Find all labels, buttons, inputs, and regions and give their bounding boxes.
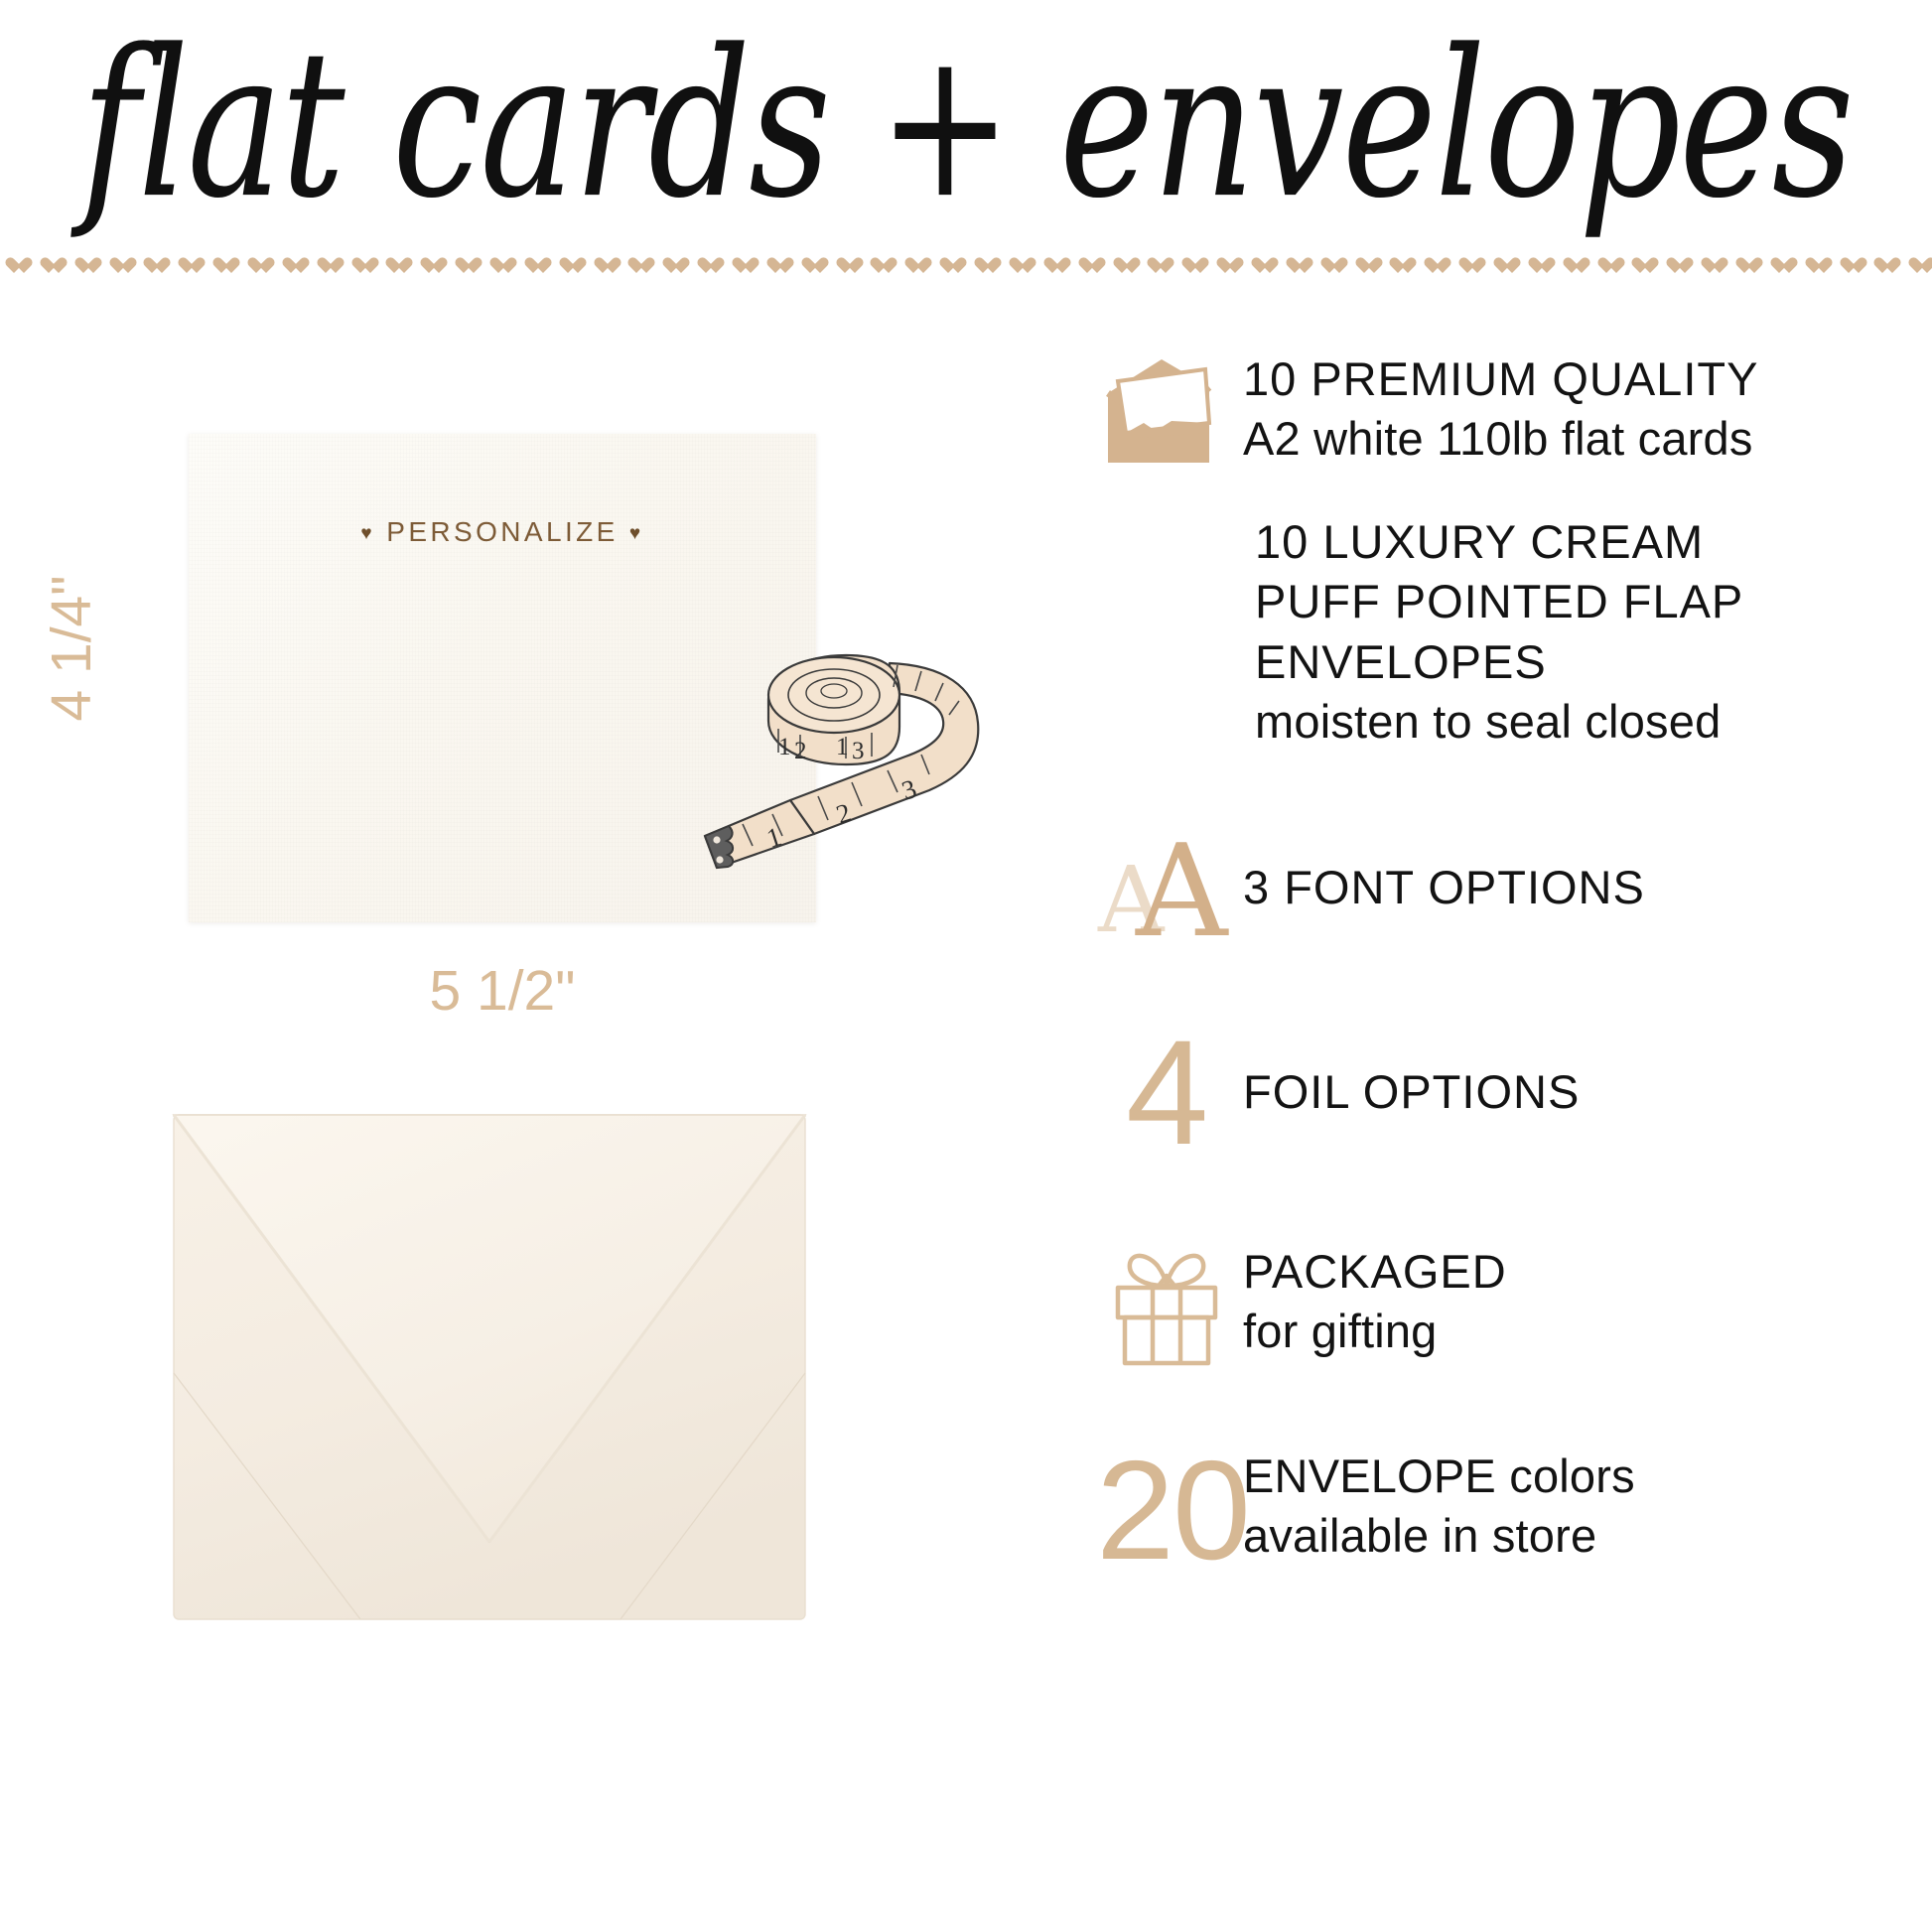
- heart-icon: [523, 257, 543, 276]
- gift-box-icon: [1106, 1242, 1227, 1369]
- tape-roll-mark-1: 1: [778, 734, 791, 760]
- heart-icon: [1319, 257, 1339, 276]
- feature-line: 3 FONT OPTIONS: [1243, 858, 1932, 917]
- feature-line: FOIL OPTIONS: [1243, 1062, 1932, 1122]
- heart-icon: [558, 257, 578, 276]
- feature-text: 10 PREMIUM QUALITY A2 white 110lb flat c…: [1231, 349, 1932, 469]
- feature-line: PACKAGED: [1243, 1242, 1932, 1302]
- feature-icon-slot: [1100, 349, 1231, 467]
- font-letter-large: A: [1136, 829, 1227, 956]
- personalize-text: PERSONALIZE: [386, 516, 618, 547]
- heart-icon: [973, 257, 993, 276]
- heart-icon: [39, 257, 59, 276]
- heart-icon: [696, 257, 716, 276]
- heart-icon: [1596, 257, 1616, 276]
- heart-icon: [281, 257, 301, 276]
- tape-roll-mark-4: 3: [852, 738, 865, 764]
- page-title-text: flat cards + envelopes: [80, 18, 1853, 231]
- heart-icon: [211, 257, 231, 276]
- feature-item-foil-options: 4 FOIL OPTIONS: [1100, 1024, 1932, 1161]
- open-envelope-with-card-icon: [1100, 349, 1223, 467]
- heart-icon-right: ♥: [629, 523, 644, 544]
- heart-icon: [1630, 257, 1650, 276]
- heart-icon: [454, 257, 474, 276]
- heart-divider: [0, 246, 1932, 286]
- feature-item-luxury-envelopes: 10 LUXURY CREAM PUFF POINTED FLAP ENVELO…: [1100, 512, 1932, 752]
- heart-icon: [1457, 257, 1477, 276]
- feature-line: moisten to seal closed: [1255, 692, 1932, 752]
- feature-line: 10 PREMIUM QUALITY: [1243, 349, 1932, 409]
- heart-icon: [1077, 257, 1097, 276]
- heart-icon: [1769, 257, 1789, 276]
- infographic-page: flat cards + envelopes ♥ PERSONALIZE ♥ 4…: [0, 0, 1932, 1932]
- heart-icon: [1872, 257, 1892, 276]
- heart-icon: [938, 257, 958, 276]
- heart-icon: [835, 257, 855, 276]
- heart-icon: [108, 257, 128, 276]
- heart-icon: [1839, 257, 1859, 276]
- heart-icon: [1423, 257, 1443, 276]
- feature-line: for gifting: [1243, 1302, 1932, 1361]
- heart-icon-left: ♥: [360, 523, 375, 544]
- personalize-label: ♥ PERSONALIZE ♥: [189, 516, 816, 548]
- feature-text: FOIL OPTIONS: [1231, 1062, 1932, 1122]
- card-width-dimension: 5 1/2": [189, 958, 816, 1024]
- feature-line: ENVELOPES: [1255, 632, 1932, 692]
- heart-icon: [1804, 257, 1824, 276]
- heart-icon: [246, 257, 266, 276]
- heart-icon: [661, 257, 681, 276]
- heart-icon: [1734, 257, 1754, 276]
- feature-line: A2 white 110lb flat cards: [1243, 409, 1932, 469]
- heart-icon: [903, 257, 923, 276]
- heart-icon: [1180, 257, 1200, 276]
- feature-line: 10 LUXURY CREAM: [1255, 512, 1932, 572]
- foil-options-count: 4: [1126, 1024, 1208, 1161]
- heart-icon: [177, 257, 197, 276]
- envelope-preview: [162, 1105, 817, 1631]
- heart-icon: [731, 257, 751, 276]
- feature-text: 10 LUXURY CREAM PUFF POINTED FLAP ENVELO…: [1243, 512, 1932, 752]
- card-height-dimension: 4 1/4": [39, 519, 104, 777]
- heart-icon: [1250, 257, 1270, 276]
- feature-icon-slot: 4: [1100, 1024, 1231, 1161]
- heart-icon: [419, 257, 439, 276]
- heart-icon: [142, 257, 162, 276]
- heart-icon: [1215, 257, 1235, 276]
- heart-icon: [1112, 257, 1132, 276]
- measuring-tape-icon: 1 2 1 3 1 2 3: [695, 625, 993, 884]
- heart-icon: [1665, 257, 1685, 276]
- feature-line: PUFF POINTED FLAP: [1255, 572, 1932, 631]
- feature-line: ENVELOPE colors: [1243, 1447, 1932, 1506]
- feature-item-packaged: PACKAGED for gifting: [1100, 1242, 1932, 1369]
- heart-icon: [1354, 257, 1374, 276]
- heart-icon: [1008, 257, 1028, 276]
- feature-item-premium-quality: 10 PREMIUM QUALITY A2 white 110lb flat c…: [1100, 349, 1932, 469]
- feature-icon-slot: [1100, 1242, 1231, 1369]
- heart-icon: [869, 257, 889, 276]
- heart-icon: [800, 257, 820, 276]
- heart-icon: [4, 257, 24, 276]
- heart-icon: [1492, 257, 1512, 276]
- feature-text: ENVELOPE colors available in store: [1231, 1447, 1932, 1566]
- feature-list: 10 PREMIUM QUALITY A2 white 110lb flat c…: [1100, 349, 1932, 1577]
- heart-icon: [350, 257, 370, 276]
- feature-text: PACKAGED for gifting: [1231, 1242, 1932, 1361]
- double-a-font-icon: A A: [1100, 829, 1227, 946]
- feature-line: available in store: [1243, 1506, 1932, 1566]
- feature-icon-slot: 20: [1100, 1447, 1231, 1577]
- feature-icon-slot: A A: [1100, 829, 1231, 946]
- heart-icon: [1562, 257, 1582, 276]
- heart-icon: [593, 257, 613, 276]
- feature-item-envelope-colors: 20 ENVELOPE colors available in store: [1100, 1447, 1932, 1577]
- heart-icon: [765, 257, 785, 276]
- tape-roll-mark-3: 1: [836, 734, 849, 760]
- heart-icon: [1042, 257, 1062, 276]
- heart-icon: [73, 257, 93, 276]
- heart-icon: [1907, 257, 1927, 276]
- page-title: flat cards + envelopes: [0, 18, 1932, 193]
- heart-icon: [316, 257, 336, 276]
- heart-icon: [488, 257, 508, 276]
- heart-icon: [1146, 257, 1166, 276]
- heart-icon: [1700, 257, 1720, 276]
- heart-icon: [1527, 257, 1547, 276]
- feature-text: 3 FONT OPTIONS: [1231, 858, 1932, 917]
- envelope-colors-count: 20: [1096, 1447, 1249, 1577]
- heart-icon: [384, 257, 404, 276]
- heart-icon: [1388, 257, 1408, 276]
- tape-roll-mark-2: 2: [794, 738, 807, 764]
- feature-item-font-options: A A 3 FONT OPTIONS: [1100, 829, 1932, 946]
- heart-icon: [1285, 257, 1305, 276]
- heart-icon: [626, 257, 646, 276]
